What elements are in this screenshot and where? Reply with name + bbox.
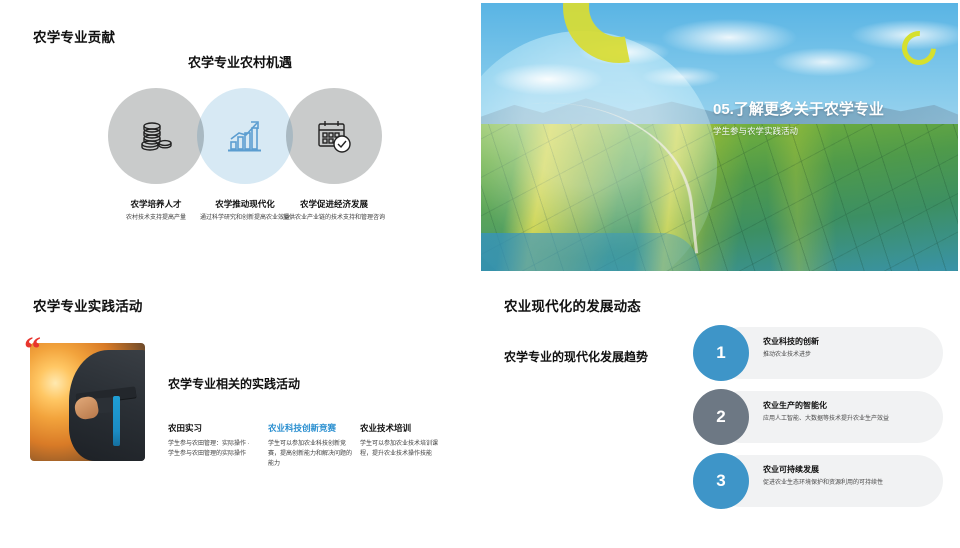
icon-circle-group — [0, 88, 480, 194]
section-subtitle: 学生参与农学实践活动 — [713, 126, 943, 137]
practice-column: 农业技术培训 学生可以参加农业技术培训课程，提升农业技术操作技能 — [360, 423, 448, 459]
tassel-shape — [113, 396, 120, 446]
slide-modernization-trends[interactable]: 农业现代化的发展动态 农学专业的现代化发展趋势 1 农业科技的创新 推动农业技术… — [481, 285, 960, 548]
list-item-text: 农业科技的创新 推动农业技术进步 — [763, 337, 931, 360]
section-number-title: 05.了解更多关于农学专业 — [713, 101, 943, 120]
slide-deck-overview: 农学专业贡献 农学专业农村机遇 — [0, 0, 960, 548]
hand-shape — [73, 395, 100, 421]
list-item-number-badge: 3 — [693, 453, 749, 509]
practice-column: 农业科技创新竞赛 学生可以参加农业科技创新竞赛，提高创新能力和解决问题的能力 — [268, 423, 356, 470]
list-item[interactable]: 1 农业科技的创新 推动农业技术进步 — [693, 325, 943, 381]
list-item-desc: 推动农业技术进步 — [763, 351, 931, 359]
section-heading: 农学专业农村机遇 — [0, 52, 480, 71]
list-item-title: 农业科技的创新 — [763, 337, 931, 347]
slide-learn-more[interactable]: 05.了解更多关于农学专业 学生参与农学实践活动 — [481, 3, 958, 271]
calendar-check-icon — [314, 116, 354, 156]
list-item-text: 农业可持续发展 促进农业生态环境保护和资源利用的可持续性 — [763, 465, 931, 488]
column-desc: 学生可以参加农业科技创新竞赛，提高创新能力和解决问题的能力 — [268, 439, 356, 470]
column-desc: 学生参与农田管理：实际操作 · 学生参与农田管理的实际操作 — [168, 439, 256, 459]
column-title: 农田实习 — [168, 423, 256, 434]
column-title: 农业技术培训 — [360, 423, 448, 434]
list-item-title: 农业生产的智能化 — [763, 401, 931, 411]
list-item-title: 农业可持续发展 — [763, 465, 931, 475]
list-item-desc: 应用人工智能、大数据等技术提升农业生产效益 — [763, 415, 931, 423]
list-item[interactable]: 2 农业生产的智能化 应用人工智能、大数据等技术提升农业生产效益 — [693, 389, 943, 445]
quotation-mark-icon: “ — [24, 336, 41, 363]
list-item-number-badge: 1 — [693, 325, 749, 381]
icon-circle-modernization[interactable] — [197, 88, 293, 184]
slide-practice-activities[interactable]: 农学专业实践活动 “ 农学专业相关的实践活动 农田实习 学生参与农田管理：实际操… — [0, 285, 480, 548]
page-title: 农业现代化的发展动态 — [504, 299, 641, 315]
page-title: 农学专业贡献 — [33, 30, 115, 46]
practice-column: 农田实习 学生参与农田管理：实际操作 · 学生参与农田管理的实际操作 — [168, 423, 256, 459]
page-title: 农学专业实践活动 — [33, 299, 143, 315]
list-item[interactable]: 3 农业可持续发展 促进农业生态环境保护和资源利用的可持续性 — [693, 453, 943, 509]
list-item-text: 农业生产的智能化 应用人工智能、大数据等技术提升农业生产效益 — [763, 401, 931, 424]
coins-stack-icon — [136, 116, 176, 156]
column-title: 农业科技创新竞赛 — [268, 423, 356, 434]
bottom-overlay — [481, 233, 700, 271]
list-item-desc: 促进农业生态环境保护和资源利用的可持续性 — [763, 479, 931, 487]
icon-circle-economy[interactable] — [286, 88, 382, 184]
section-subtitle: 农学专业的现代化发展趋势 — [504, 350, 674, 366]
column-desc: 学生可以参加农业技术培训课程，提升农业技术操作技能 — [360, 439, 448, 459]
caption-title: 农学促进经济发展 — [272, 199, 396, 210]
graduation-photo — [30, 343, 145, 461]
numbered-list: 1 农业科技的创新 推动农业技术进步 2 农业生产的智能化 应用人工智能、大数据… — [693, 325, 943, 517]
bar-chart-growth-icon — [225, 116, 265, 156]
icon-circle-talent[interactable] — [108, 88, 204, 184]
slide-agronomy-contribution[interactable]: 农学专业贡献 农学专业农村机遇 — [0, 0, 480, 274]
section-heading: 农学专业相关的实践活动 — [168, 375, 300, 392]
list-item-number-badge: 2 — [693, 389, 749, 445]
photo-caption-group: 05.了解更多关于农学专业 学生参与农学实践活动 — [713, 101, 943, 137]
caption-item: 农学促进经济发展 提供农业产业链的技术支持和管理咨询 — [272, 199, 396, 223]
caption-desc: 提供农业产业链的技术支持和管理咨询 — [272, 214, 396, 223]
